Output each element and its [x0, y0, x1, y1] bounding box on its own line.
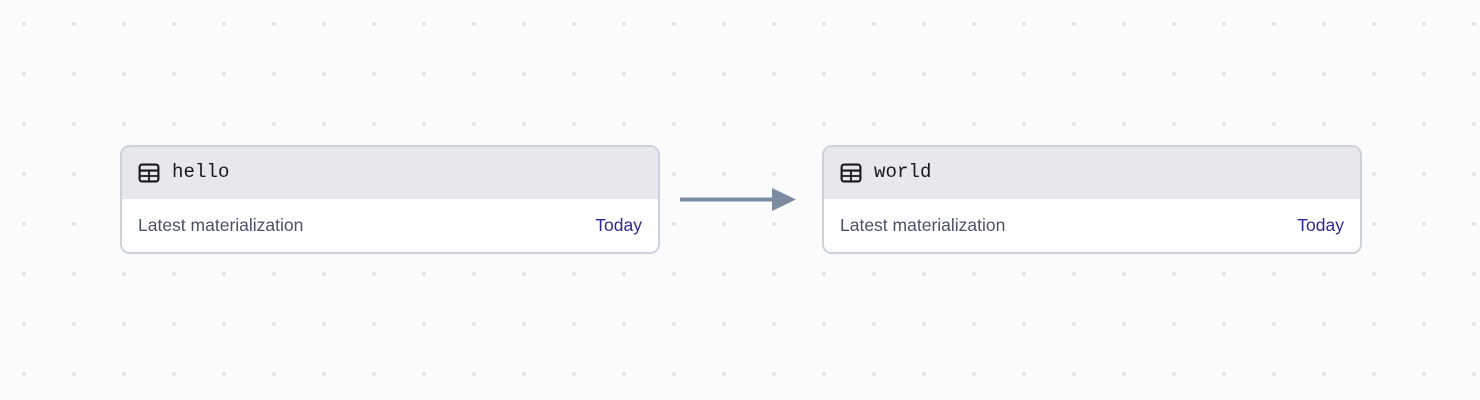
table-icon	[138, 162, 160, 184]
asset-node-header[interactable]: hello	[122, 147, 658, 199]
asset-graph-canvas[interactable]: hello Latest materialization Today world…	[0, 0, 1480, 400]
table-icon	[840, 162, 862, 184]
asset-node-title: hello	[172, 163, 230, 182]
asset-node-hello[interactable]: hello Latest materialization Today	[120, 145, 660, 254]
latest-materialization-value[interactable]: Today	[1297, 215, 1344, 236]
asset-node-title: world	[874, 163, 932, 182]
latest-materialization-label: Latest materialization	[840, 215, 1005, 236]
asset-node-header[interactable]: world	[824, 147, 1360, 199]
asset-node-world[interactable]: world Latest materialization Today	[822, 145, 1362, 254]
latest-materialization-label: Latest materialization	[138, 215, 303, 236]
asset-node-body: Latest materialization Today	[122, 199, 658, 252]
latest-materialization-value[interactable]: Today	[595, 215, 642, 236]
edge-arrowhead-icon	[772, 188, 796, 211]
asset-node-body: Latest materialization Today	[824, 199, 1360, 252]
edge-hello-to-world	[680, 188, 796, 211]
